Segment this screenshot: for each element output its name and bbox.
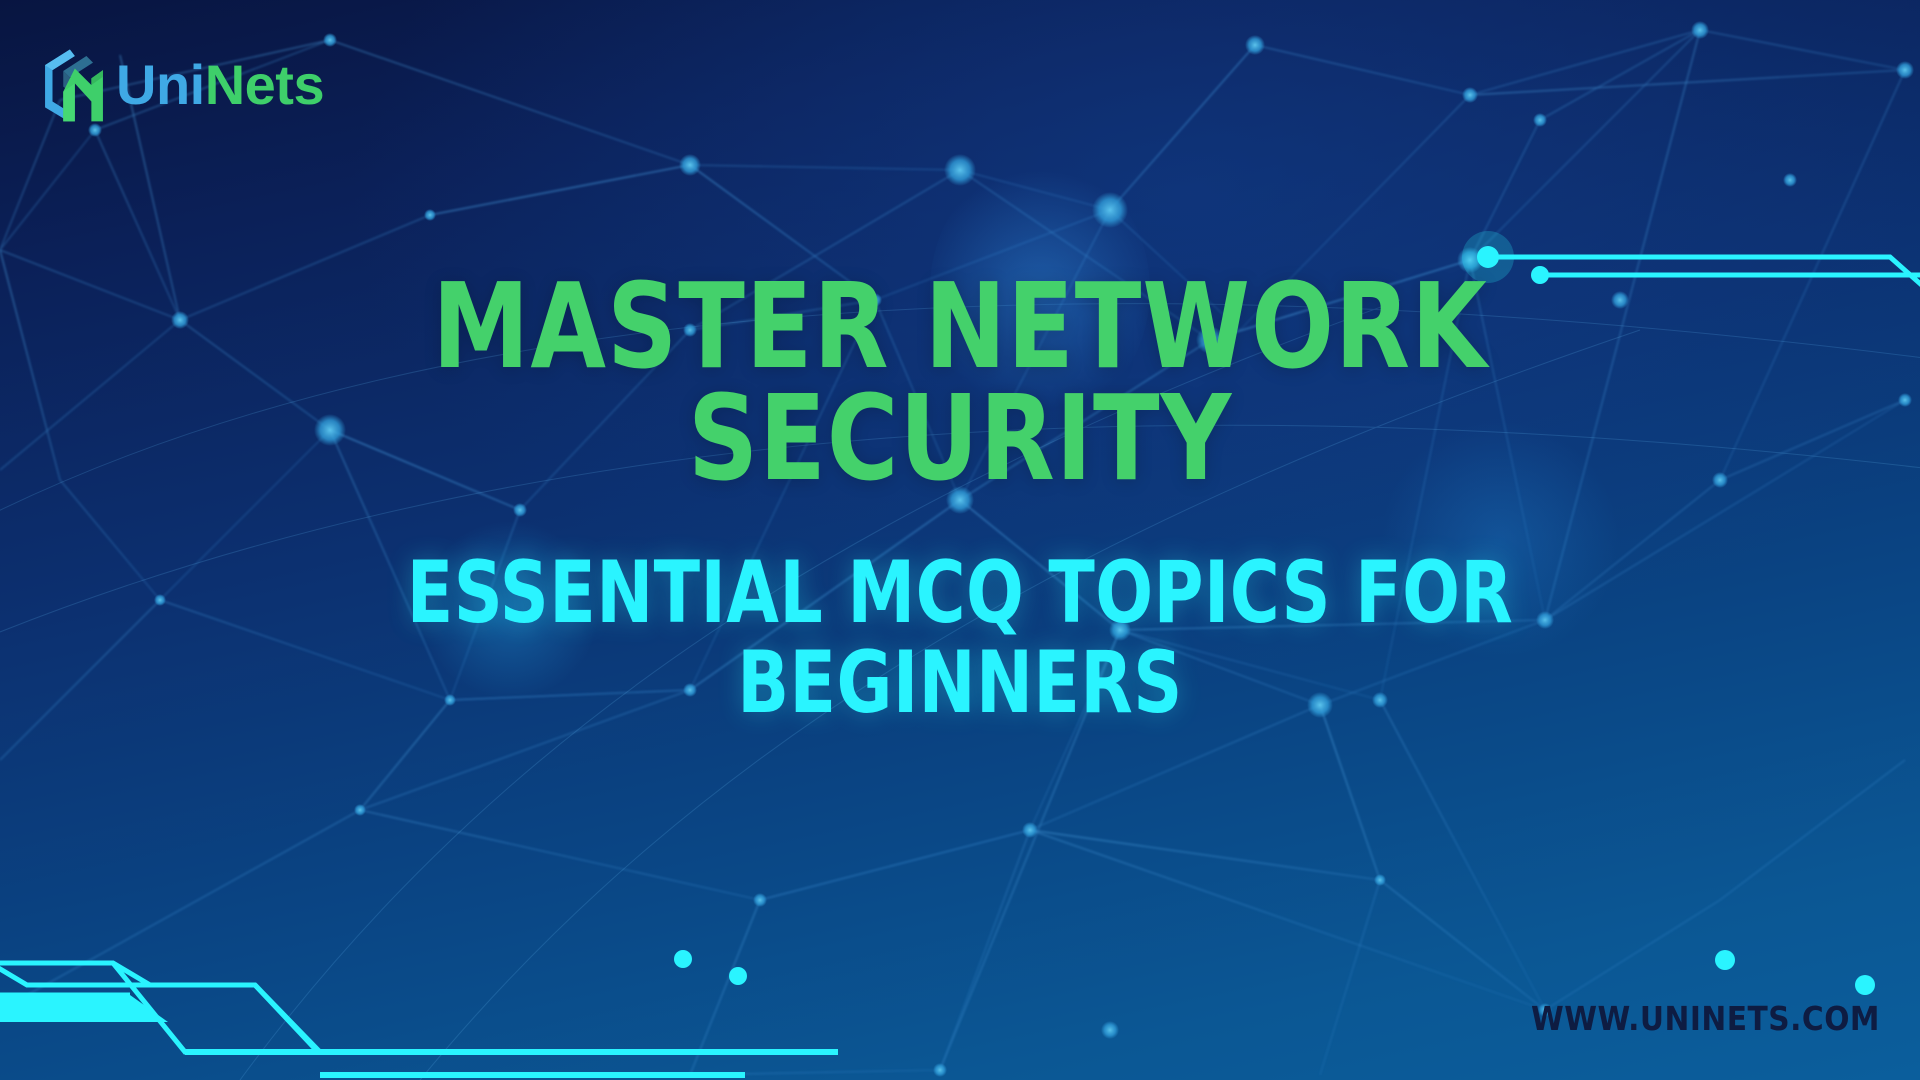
- website-url[interactable]: WWW.UNINETS.COM: [1531, 999, 1880, 1038]
- brand-name-nets: Nets: [205, 57, 324, 113]
- brand-logo[interactable]: UniNets: [38, 42, 324, 128]
- uninets-hexagon-logo-icon: [38, 42, 110, 128]
- subheadline-line-1: ESSENTIAL MCQ TOPICS FOR: [115, 548, 1805, 638]
- headline: MASTER NETWORK SECURITY: [77, 270, 1843, 494]
- brand-wordmark: UniNets: [116, 57, 324, 113]
- banner-copy: MASTER NETWORK SECURITY ESSENTIAL MCQ TO…: [0, 270, 1920, 729]
- subheadline: ESSENTIAL MCQ TOPICS FOR BEGINNERS: [115, 548, 1805, 729]
- subheadline-line-2: BEGINNERS: [115, 638, 1805, 728]
- headline-line-1: MASTER NETWORK: [77, 270, 1843, 382]
- brand-name-uni: Uni: [116, 57, 205, 113]
- promo-banner: UniNets MASTER NETWORK SECURITY ESSENTIA…: [0, 0, 1920, 1080]
- headline-line-2: SECURITY: [77, 382, 1843, 494]
